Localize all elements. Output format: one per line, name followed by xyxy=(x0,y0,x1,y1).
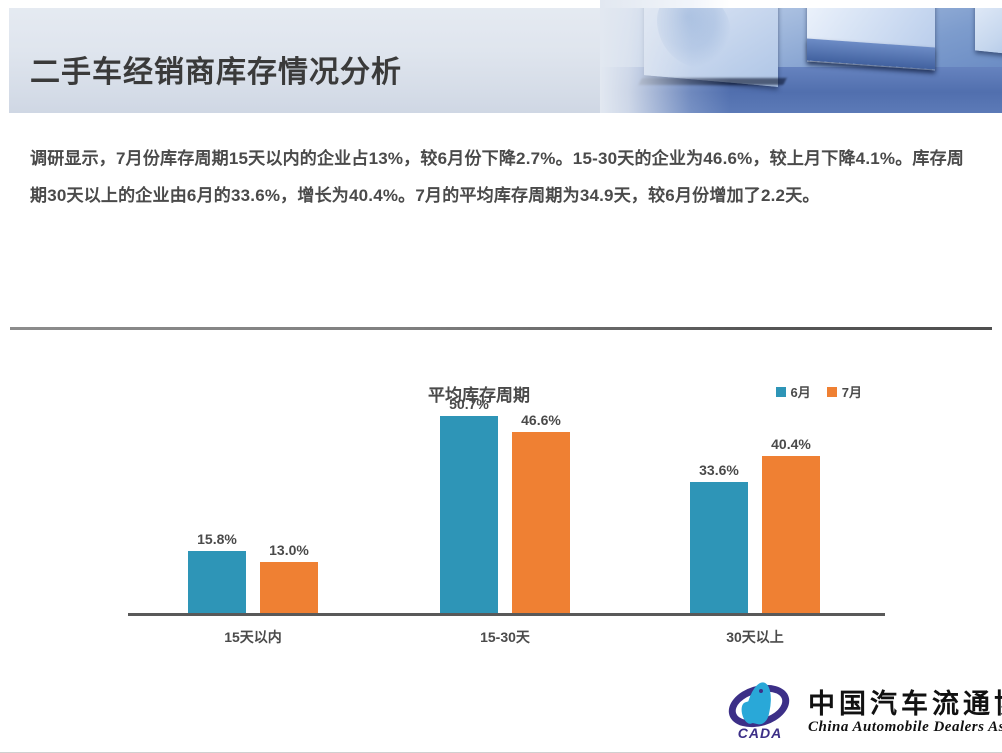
x-axis-line xyxy=(128,613,885,616)
slide-root: 二手车经销商库存情况分析 调研显示，7月份库存周期15天以内的企业占13%，较6… xyxy=(0,0,1002,753)
logo-chinese-name: 中国汽车流通协会 xyxy=(808,682,1002,721)
bar-jul-1[interactable]: 46.6% xyxy=(512,432,570,613)
page-title: 二手车经销商库存情况分析 xyxy=(30,47,402,91)
body-paragraph: 调研显示，7月份库存周期15天以内的企业占13%，较6月份下降2.7%。15-3… xyxy=(30,140,970,214)
bar-value-label-jul-2: 40.4% xyxy=(751,436,831,452)
bar-jul-2[interactable]: 40.4% xyxy=(762,456,820,613)
bar-jun-0[interactable]: 15.8% xyxy=(188,551,246,613)
bar-value-label-jun-0: 15.8% xyxy=(177,531,257,547)
bar-jun-1[interactable]: 50.7% xyxy=(440,416,498,613)
slide-header: 二手车经销商库存情况分析 xyxy=(0,0,1002,113)
bar-group-2: 33.6% 40.4% 30天以上 xyxy=(690,395,820,613)
bar-chart: 平均库存周期 6月 7月 15.8% 13.0% 15天以内 xyxy=(0,335,1002,665)
section-divider xyxy=(10,327,992,330)
bar-jun-2[interactable]: 33.6% xyxy=(690,482,748,613)
header-decorative-image xyxy=(600,0,1002,113)
bar-group-1: 50.7% 46.6% 15-30天 xyxy=(440,395,570,613)
chart-plot-area: 15.8% 13.0% 15天以内 50.7% 46.6% 15-30天 xyxy=(128,395,885,616)
header-left-edge xyxy=(0,0,9,113)
logo-mark-text: CADA xyxy=(729,725,791,741)
emblem-eye-dot xyxy=(759,689,763,693)
bar-jul-0[interactable]: 13.0% xyxy=(260,562,318,613)
category-label-0: 15天以内 xyxy=(173,627,333,647)
logo-english-name: China Automobile Dealers Association xyxy=(808,719,1002,736)
bar-value-label-jul-1: 46.6% xyxy=(501,412,581,428)
cada-logo: CADA 中国汽车流通协会 China Automobile Dealers A… xyxy=(726,678,994,744)
bar-group-0: 15.8% 13.0% 15天以内 xyxy=(188,395,318,613)
header-art-cube-3 xyxy=(975,0,1002,58)
bar-value-label-jun-1: 50.7% xyxy=(429,396,509,412)
category-label-1: 15-30天 xyxy=(425,627,585,647)
cada-emblem-icon: CADA xyxy=(726,680,796,742)
bar-value-label-jul-0: 13.0% xyxy=(249,542,329,558)
bar-value-label-jun-2: 33.6% xyxy=(679,462,759,478)
header-art-fade xyxy=(600,0,730,113)
category-label-2: 30天以上 xyxy=(675,627,835,647)
header-top-edge xyxy=(0,0,1002,8)
